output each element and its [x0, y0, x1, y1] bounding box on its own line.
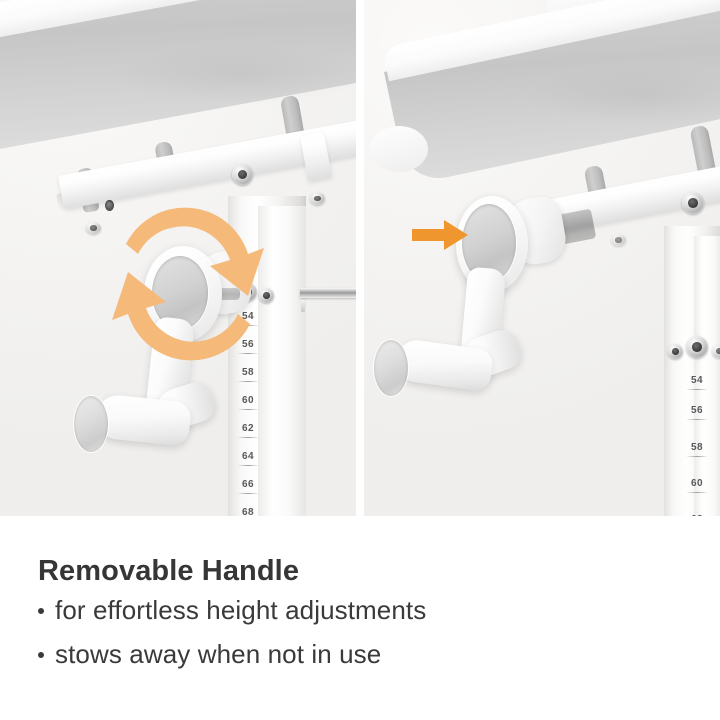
beam-bolt [611, 234, 626, 246]
scale-tick: 54 [677, 370, 717, 390]
scale-tick: 64 [228, 446, 268, 466]
support-rail [300, 288, 356, 298]
beam-bolt [232, 164, 253, 185]
photo-panel-detach: 54 56 58 60 [364, 0, 720, 516]
panel-divider [356, 0, 364, 516]
circular-rotation-arrows-icon [96, 192, 280, 376]
crank-grip-cap [74, 396, 108, 452]
crank-grip-cap [374, 340, 408, 396]
scale-tick: 62 [677, 509, 717, 516]
right-arrow-icon [410, 218, 472, 252]
scale-tick: 60 [228, 390, 268, 410]
feature-bullet-label: for effortless height adjustments [55, 595, 426, 625]
scale-tick: 68 [228, 502, 268, 516]
bullet-dot-icon [38, 652, 44, 658]
scale-tick: 56 [677, 400, 717, 420]
crank-grip [94, 393, 192, 447]
scale-tick: 66 [228, 474, 268, 494]
support-rail-tab [301, 300, 305, 312]
column-bolt [712, 344, 720, 358]
caption-block: Removable Handle for effortless height a… [0, 516, 720, 720]
photo-panel-rotate: 54 56 58 60 [0, 0, 356, 516]
product-feature-card: 54 56 58 60 [0, 0, 720, 720]
feature-title: Removable Handle [38, 554, 299, 588]
feature-bullet: for effortless height adjustments [38, 595, 426, 625]
feature-bullet-label: stows away when not in use [55, 639, 381, 669]
photo-strip: 54 56 58 60 [0, 0, 720, 516]
column-bolt [686, 336, 708, 358]
scale-tick: 60 [677, 473, 717, 493]
beam-bolt [310, 192, 325, 205]
beam-bolt [682, 192, 704, 214]
column-bolt [668, 344, 683, 359]
scale-tick: 58 [677, 437, 717, 457]
feature-bullet: stows away when not in use [38, 639, 381, 669]
desk-corner-cap [370, 126, 428, 172]
scale-tick: 62 [228, 418, 268, 438]
bullet-dot-icon [38, 608, 44, 614]
